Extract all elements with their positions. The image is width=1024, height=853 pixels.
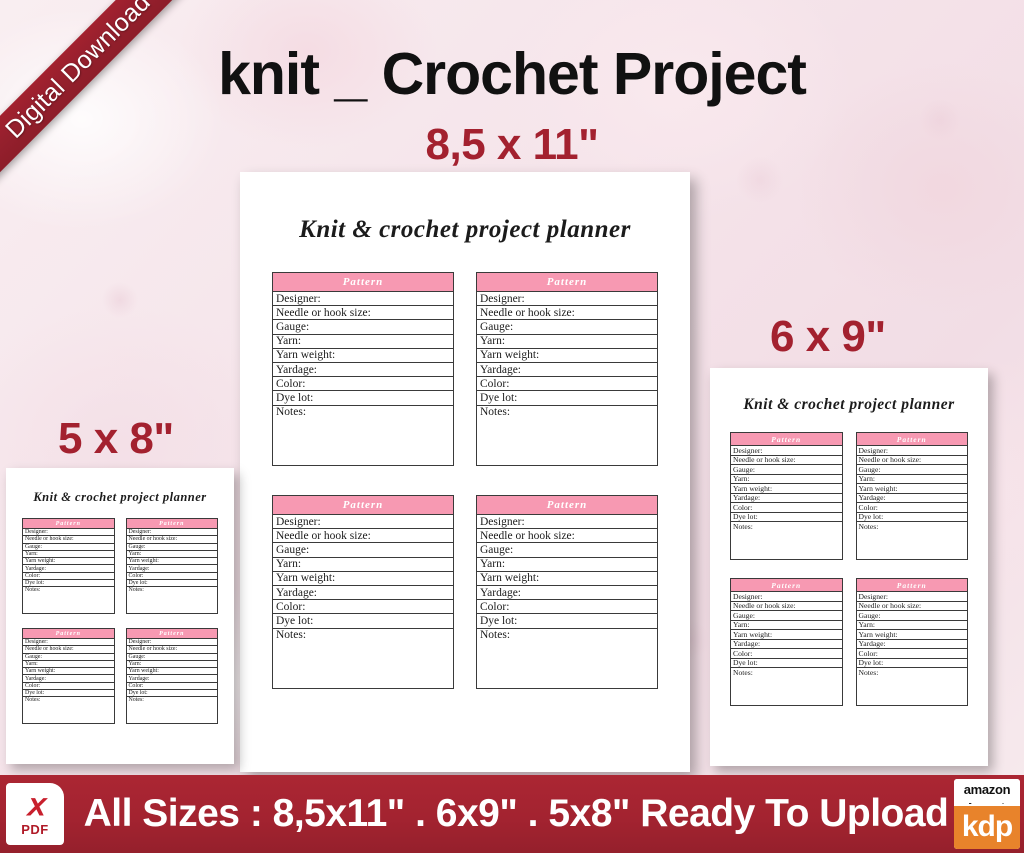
field-gauge[interactable]: Gauge:	[23, 544, 114, 551]
field-color[interactable]: Color:	[731, 503, 842, 513]
pattern-card-header: Pattern	[857, 433, 968, 446]
field-yarn[interactable]: Yarn:	[127, 551, 218, 558]
field-dye-lot[interactable]: Dye lot:	[477, 391, 657, 405]
field-yardage[interactable]: Yardage:	[127, 565, 218, 572]
field-gauge[interactable]: Gauge:	[477, 543, 657, 557]
field-color[interactable]: Color:	[731, 649, 842, 659]
pattern-card[interactable]: Pattern Designer: Needle or hook size: G…	[856, 578, 969, 706]
field-notes[interactable]: Notes:	[477, 629, 657, 689]
field-gauge[interactable]: Gauge:	[731, 465, 842, 475]
planner-heading: Knit & crochet project planner	[22, 490, 218, 505]
field-notes[interactable]: Notes:	[731, 522, 842, 559]
field-color[interactable]: Color:	[477, 600, 657, 614]
pattern-card[interactable]: Pattern Designer: Needle or hook size: G…	[476, 495, 658, 689]
field-yarn-weight[interactable]: Yarn weight:	[477, 349, 657, 363]
field-gauge[interactable]: Gauge:	[23, 654, 114, 661]
pattern-card-header: Pattern	[477, 496, 657, 515]
field-color[interactable]: Color:	[127, 683, 218, 690]
field-designer[interactable]: Designer:	[477, 292, 657, 306]
pattern-card-header: Pattern	[23, 629, 114, 639]
field-needle-or-hook-size[interactable]: Needle or hook size:	[857, 602, 968, 612]
field-yardage[interactable]: Yardage:	[23, 565, 114, 572]
pattern-card-grid: Pattern Designer: Needle or hook size: G…	[730, 432, 968, 706]
field-dye-lot[interactable]: Dye lot:	[273, 614, 453, 628]
field-gauge[interactable]: Gauge:	[127, 654, 218, 661]
pattern-card[interactable]: Pattern Designer: Needle or hook size: G…	[476, 272, 658, 466]
field-needle-or-hook-size[interactable]: Needle or hook size:	[23, 646, 114, 653]
amazon-wordmark: amazon	[964, 783, 1011, 796]
field-dye-lot[interactable]: Dye lot:	[857, 513, 968, 523]
field-dye-lot[interactable]: Dye lot:	[731, 513, 842, 523]
field-needle-or-hook-size[interactable]: Needle or hook size:	[127, 536, 218, 543]
field-dye-lot[interactable]: Dye lot:	[477, 614, 657, 628]
field-designer[interactable]: Designer:	[731, 446, 842, 456]
field-color[interactable]: Color:	[273, 377, 453, 391]
field-notes[interactable]: Notes:	[127, 587, 218, 613]
field-yarn[interactable]: Yarn:	[477, 558, 657, 572]
field-dye-lot[interactable]: Dye lot:	[23, 580, 114, 587]
field-notes[interactable]: Notes:	[23, 697, 114, 723]
kdp-wordmark: kdp	[962, 812, 1012, 842]
field-yarn[interactable]: Yarn:	[857, 621, 968, 631]
field-yarn-weight[interactable]: Yarn weight:	[857, 484, 968, 494]
field-notes[interactable]: Notes:	[857, 522, 968, 559]
size-label-6x9: 6 x 9"	[770, 312, 886, 362]
field-yarn-weight[interactable]: Yarn weight:	[857, 630, 968, 640]
field-yardage[interactable]: Yardage:	[857, 640, 968, 650]
pdf-label: PDF	[21, 822, 49, 837]
field-color[interactable]: Color:	[857, 503, 968, 513]
field-yarn-weight[interactable]: Yarn weight:	[731, 630, 842, 640]
field-yardage[interactable]: Yardage:	[273, 586, 453, 600]
acrobat-glyph-icon: ⅹ	[26, 791, 44, 821]
field-gauge[interactable]: Gauge:	[477, 320, 657, 334]
field-notes[interactable]: Notes:	[23, 587, 114, 613]
field-gauge[interactable]: Gauge:	[273, 320, 453, 334]
field-needle-or-hook-size[interactable]: Needle or hook size:	[857, 456, 968, 466]
field-yarn-weight[interactable]: Yarn weight:	[23, 668, 114, 675]
field-dye-lot[interactable]: Dye lot:	[731, 659, 842, 669]
field-yarn-weight[interactable]: Yarn weight:	[127, 558, 218, 565]
field-designer[interactable]: Designer:	[857, 446, 968, 456]
pattern-card[interactable]: Pattern Designer: Needle or hook size: G…	[730, 432, 843, 560]
bottom-banner: ⅹ PDF All Sizes : 8,5x11" . 6x9" . 5x8" …	[0, 775, 1024, 853]
field-notes[interactable]: Notes:	[273, 406, 453, 466]
field-notes[interactable]: Notes:	[273, 629, 453, 689]
field-yardage[interactable]: Yardage:	[127, 675, 218, 682]
field-color[interactable]: Color:	[127, 573, 218, 580]
pattern-card-grid: Pattern Designer: Needle or hook size: G…	[272, 272, 658, 689]
pattern-card[interactable]: Pattern Designer: Needle or hook size: G…	[126, 628, 219, 724]
field-color[interactable]: Color:	[273, 600, 453, 614]
field-yarn[interactable]: Yarn:	[273, 335, 453, 349]
field-color[interactable]: Color:	[857, 649, 968, 659]
field-yarn-weight[interactable]: Yarn weight:	[273, 572, 453, 586]
field-needle-or-hook-size[interactable]: Needle or hook size:	[273, 306, 453, 320]
field-dye-lot[interactable]: Dye lot:	[127, 690, 218, 697]
pattern-card[interactable]: Pattern Designer: Needle or hook size: G…	[730, 578, 843, 706]
amazon-kdp-icon: amazon kdp	[954, 779, 1020, 849]
field-designer[interactable]: Designer:	[857, 592, 968, 602]
pattern-card-grid: Pattern Designer: Needle or hook size: G…	[22, 518, 218, 724]
field-needle-or-hook-size[interactable]: Needle or hook size:	[127, 646, 218, 653]
planner-preview-5x8[interactable]: Knit & crochet project planner Pattern D…	[6, 468, 234, 764]
field-needle-or-hook-size[interactable]: Needle or hook size:	[477, 306, 657, 320]
pattern-card-header: Pattern	[23, 519, 114, 529]
field-gauge[interactable]: Gauge:	[127, 544, 218, 551]
field-dye-lot[interactable]: Dye lot:	[127, 580, 218, 587]
field-needle-or-hook-size[interactable]: Needle or hook size:	[23, 536, 114, 543]
pattern-card-header: Pattern	[127, 519, 218, 529]
field-yarn[interactable]: Yarn:	[857, 475, 968, 485]
planner-preview-6x9[interactable]: Knit & crochet project planner Pattern D…	[710, 368, 988, 766]
field-needle-or-hook-size[interactable]: Needle or hook size:	[477, 529, 657, 543]
field-yarn[interactable]: Yarn:	[127, 661, 218, 668]
field-designer[interactable]: Designer:	[23, 529, 114, 536]
field-gauge[interactable]: Gauge:	[273, 543, 453, 557]
field-designer[interactable]: Designer:	[127, 529, 218, 536]
field-needle-or-hook-size[interactable]: Needle or hook size:	[731, 456, 842, 466]
headline-block: knit _ Crochet Project	[0, 44, 1024, 106]
field-dye-lot[interactable]: Dye lot:	[857, 659, 968, 669]
field-color[interactable]: Color:	[477, 377, 657, 391]
pattern-card[interactable]: Pattern Designer: Needle or hook size: G…	[22, 628, 115, 724]
field-yarn-weight[interactable]: Yarn weight:	[23, 558, 114, 565]
field-notes[interactable]: Notes:	[127, 697, 218, 723]
field-notes[interactable]: Notes:	[857, 668, 968, 705]
banner-text: All Sizes : 8,5x11" . 6x9" . 5x8" Ready …	[0, 792, 1024, 836]
field-needle-or-hook-size[interactable]: Needle or hook size:	[273, 529, 453, 543]
pattern-card-header: Pattern	[477, 273, 657, 292]
field-yarn[interactable]: Yarn:	[23, 661, 114, 668]
pattern-card-header: Pattern	[273, 496, 453, 515]
pattern-card-header: Pattern	[857, 579, 968, 592]
field-yarn-weight[interactable]: Yarn weight:	[127, 668, 218, 675]
field-yardage[interactable]: Yardage:	[731, 494, 842, 504]
planner-heading: Knit & crochet project planner	[730, 396, 968, 414]
field-yardage[interactable]: Yardage:	[273, 363, 453, 377]
field-yarn-weight[interactable]: Yarn weight:	[477, 572, 657, 586]
field-designer[interactable]: Designer:	[127, 639, 218, 646]
pattern-card[interactable]: Pattern Designer: Needle or hook size: G…	[22, 518, 115, 614]
field-yarn-weight[interactable]: Yarn weight:	[273, 349, 453, 363]
field-yarn[interactable]: Yarn:	[273, 558, 453, 572]
page-title: knit _ Crochet Project	[0, 44, 1024, 106]
field-designer[interactable]: Designer:	[273, 515, 453, 529]
kdp-block: kdp	[954, 806, 1020, 849]
field-yardage[interactable]: Yardage:	[477, 586, 657, 600]
size-label-letter: 8,5 x 11"	[0, 120, 1024, 170]
pattern-card[interactable]: Pattern Designer: Needle or hook size: G…	[856, 432, 969, 560]
field-gauge[interactable]: Gauge:	[857, 465, 968, 475]
field-yardage[interactable]: Yardage:	[731, 640, 842, 650]
field-dye-lot[interactable]: Dye lot:	[273, 391, 453, 405]
field-yarn[interactable]: Yarn:	[477, 335, 657, 349]
field-yarn[interactable]: Yarn:	[731, 475, 842, 485]
pattern-card-header: Pattern	[731, 579, 842, 592]
field-designer[interactable]: Designer:	[477, 515, 657, 529]
size-label-5x8: 5 x 8"	[58, 414, 174, 464]
field-dye-lot[interactable]: Dye lot:	[23, 690, 114, 697]
planner-heading: Knit & crochet project planner	[272, 216, 658, 244]
pattern-card[interactable]: Pattern Designer: Needle or hook size: G…	[272, 495, 454, 689]
amazon-smile-icon	[969, 797, 1005, 804]
field-color[interactable]: Color:	[23, 573, 114, 580]
field-yardage[interactable]: Yardage:	[477, 363, 657, 377]
field-yarn-weight[interactable]: Yarn weight:	[731, 484, 842, 494]
field-designer[interactable]: Designer:	[731, 592, 842, 602]
pattern-card-header: Pattern	[273, 273, 453, 292]
field-notes[interactable]: Notes:	[477, 406, 657, 466]
pattern-card[interactable]: Pattern Designer: Needle or hook size: G…	[272, 272, 454, 466]
field-yarn[interactable]: Yarn:	[23, 551, 114, 558]
field-designer[interactable]: Designer:	[23, 639, 114, 646]
pattern-card-header: Pattern	[127, 629, 218, 639]
amazon-logo: amazon	[954, 779, 1020, 806]
field-yarn[interactable]: Yarn:	[731, 621, 842, 631]
field-designer[interactable]: Designer:	[273, 292, 453, 306]
field-gauge[interactable]: Gauge:	[731, 611, 842, 621]
field-notes[interactable]: Notes:	[731, 668, 842, 705]
pattern-card[interactable]: Pattern Designer: Needle or hook size: G…	[126, 518, 219, 614]
field-yardage[interactable]: Yardage:	[23, 675, 114, 682]
field-gauge[interactable]: Gauge:	[857, 611, 968, 621]
planner-preview-8-5x11[interactable]: Knit & crochet project planner Pattern D…	[240, 172, 690, 772]
pdf-icon: ⅹ PDF	[6, 783, 64, 845]
field-color[interactable]: Color:	[23, 683, 114, 690]
pattern-card-header: Pattern	[731, 433, 842, 446]
field-needle-or-hook-size[interactable]: Needle or hook size:	[731, 602, 842, 612]
field-yardage[interactable]: Yardage:	[857, 494, 968, 504]
